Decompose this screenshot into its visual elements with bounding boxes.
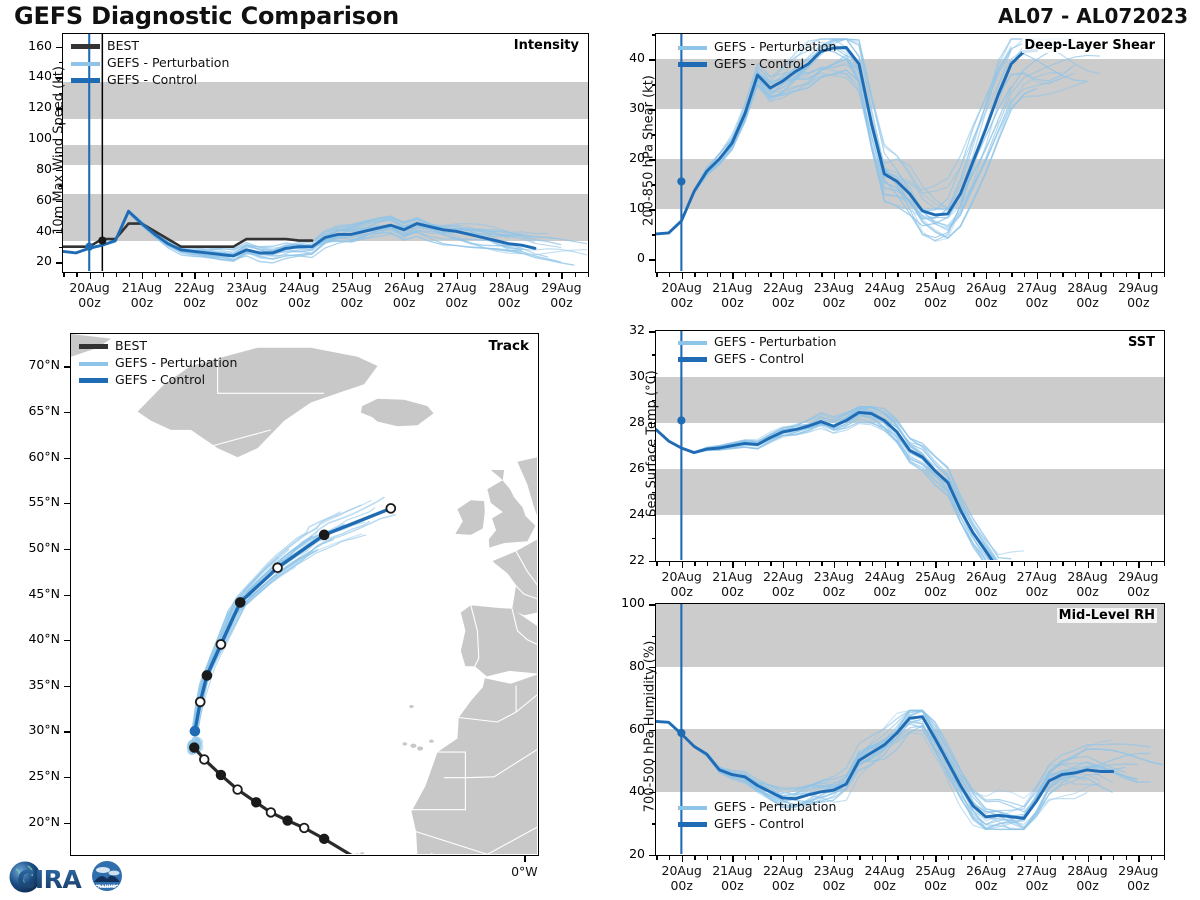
x-tick-hour: 00z — [1076, 878, 1098, 893]
svg-text:RAMMB: RAMMB — [98, 884, 116, 889]
y-tick-label: 60 — [585, 721, 645, 736]
x-minor-tick — [1011, 856, 1012, 860]
lat-tick-mark — [64, 503, 70, 504]
x-tick-mark — [682, 273, 683, 279]
x-tick-hour: 00z — [498, 295, 520, 310]
x-tick-label: 21Aug00z — [112, 280, 172, 311]
x-minor-tick — [378, 273, 379, 277]
control-track-line — [195, 508, 391, 731]
x-minor-tick — [443, 273, 444, 277]
x-tick-date: 20Aug — [662, 569, 702, 584]
x-minor-tick — [63, 273, 64, 277]
x-tick-mark — [1088, 273, 1089, 279]
x-tick-date: 27Aug — [1017, 863, 1057, 878]
x-tick-mark — [352, 273, 353, 279]
x-minor-tick — [535, 273, 536, 277]
x-minor-tick — [999, 273, 1000, 277]
x-minor-tick — [1024, 273, 1025, 277]
x-tick-mark — [783, 562, 784, 568]
x-tick-mark — [561, 273, 562, 279]
x-minor-tick — [872, 562, 873, 566]
y-minor-tick — [59, 247, 63, 248]
x-tick-date: 29Aug — [1118, 280, 1158, 295]
legend-label-perturbation: GEFS - Perturbation — [714, 801, 836, 814]
x-tick-date: 20Aug — [662, 280, 702, 295]
x-tick-date: 28Aug — [1067, 863, 1107, 878]
legend-swatch-perturbation — [678, 341, 707, 345]
shear-panel-label: Deep-Layer Shear — [1022, 38, 1157, 53]
y-tick-label: 28 — [585, 414, 645, 429]
lat-tick-label: 60°N — [0, 449, 60, 464]
legend-swatch-best — [71, 44, 100, 48]
x-minor-tick — [1024, 562, 1025, 566]
x-minor-tick — [973, 856, 974, 860]
legend-label-perturbation: GEFS - Perturbation — [115, 357, 237, 370]
x-tick-date: 27Aug — [436, 280, 476, 295]
y-tick-label: 30 — [585, 368, 645, 383]
x-tick-date: 23Aug — [814, 863, 854, 878]
x-minor-tick — [286, 273, 287, 277]
x-minor-tick — [1151, 856, 1152, 860]
y-tick-mark — [56, 232, 62, 233]
x-tick-mark — [834, 562, 835, 568]
x-tick-date: 25Aug — [915, 569, 955, 584]
y-tick-mark — [56, 77, 62, 78]
x-tick-date: 26Aug — [966, 863, 1006, 878]
x-tick-hour: 00z — [670, 878, 692, 893]
x-tick-hour: 00z — [670, 295, 692, 310]
sst-legend: GEFS - Perturbation GEFS - Control — [678, 334, 836, 368]
y-tick-label: 80 — [585, 658, 645, 673]
x-tick-hour: 00z — [721, 878, 743, 893]
x-tick-date: 20Aug — [662, 863, 702, 878]
x-tick-hour: 00z — [924, 295, 946, 310]
x-minor-tick — [1164, 856, 1165, 860]
rh-legend: GEFS - Perturbation GEFS - Control — [678, 799, 836, 833]
x-tick-date: 25Aug — [332, 280, 372, 295]
x-minor-tick — [809, 562, 810, 566]
x-tick-hour: 00z — [131, 295, 153, 310]
x-minor-tick — [910, 273, 911, 277]
x-minor-tick — [1050, 273, 1051, 277]
x-tick-hour: 00z — [772, 295, 794, 310]
x-minor-tick — [548, 273, 549, 277]
y-minor-tick — [652, 184, 656, 185]
x-tick-hour: 00z — [975, 878, 997, 893]
x-tick-hour: 00z — [823, 584, 845, 599]
x-minor-tick — [1011, 273, 1012, 277]
x-tick-label: 29Aug00z — [531, 280, 591, 311]
y-tick-mark — [649, 469, 655, 470]
x-tick-date: 21Aug — [122, 280, 162, 295]
x-tick-hour: 00z — [1026, 295, 1048, 310]
lat-tick-label: 50°N — [0, 540, 60, 555]
x-tick-date: 21Aug — [712, 280, 752, 295]
y-tick-mark — [649, 730, 655, 731]
x-minor-tick — [656, 856, 657, 860]
x-minor-tick — [821, 273, 822, 277]
x-minor-tick — [948, 856, 949, 860]
lat-tick-label: 45°N — [0, 586, 60, 601]
x-tick-date: 21Aug — [712, 569, 752, 584]
legend-label-control: GEFS - Control — [714, 353, 804, 366]
x-tick-hour: 00z — [823, 878, 845, 893]
x-tick-hour: 00z — [236, 295, 258, 310]
x-minor-tick — [745, 562, 746, 566]
panel-sst: SST GEFS - Perturbation GEFS - Control S… — [655, 330, 1165, 562]
x-tick-date: 22Aug — [763, 863, 803, 878]
y-tick-mark — [649, 515, 655, 516]
y-tick-mark — [649, 604, 655, 605]
current-time-marker — [85, 243, 93, 251]
lat-tick-mark — [64, 549, 70, 550]
legend-label-control: GEFS - Control — [714, 818, 804, 831]
current-time-marker — [677, 416, 685, 424]
x-minor-tick — [923, 273, 924, 277]
x-tick-label: 24Aug00z — [269, 280, 329, 311]
x-tick-label: 26Aug00z — [374, 280, 434, 311]
y-tick-label: 20 — [585, 846, 645, 861]
legend-label-control: GEFS - Control — [107, 74, 197, 87]
x-minor-tick — [758, 562, 759, 566]
x-tick-mark — [935, 273, 936, 279]
lat-tick-label: 20°N — [0, 814, 60, 829]
x-tick-mark — [1037, 856, 1038, 862]
y-tick-label: 20 — [0, 253, 52, 268]
y-minor-tick — [59, 124, 63, 125]
x-minor-tick — [847, 273, 848, 277]
control-track-point — [196, 698, 205, 707]
y-tick-label: 100 — [585, 595, 645, 610]
x-minor-tick — [847, 856, 848, 860]
x-tick-mark — [1138, 273, 1139, 279]
rh-panel-label: Mid-Level RH — [1057, 608, 1157, 623]
x-minor-tick — [859, 562, 860, 566]
y-minor-tick — [652, 446, 656, 447]
x-minor-tick — [116, 273, 117, 277]
x-tick-mark — [732, 562, 733, 568]
y-tick-mark — [56, 262, 62, 263]
control-track-point — [320, 530, 329, 539]
x-tick-label: 29Aug00z — [1108, 863, 1168, 894]
x-tick-label: 23Aug00z — [217, 280, 277, 311]
y-tick-mark — [649, 209, 655, 210]
x-tick-label: 22Aug00z — [164, 280, 224, 311]
x-tick-hour: 00z — [823, 295, 845, 310]
x-minor-tick — [770, 562, 771, 566]
x-minor-tick — [1126, 562, 1127, 566]
x-tick-label: 27Aug00z — [427, 280, 487, 311]
lat-tick-mark — [64, 412, 70, 413]
x-minor-tick — [417, 273, 418, 277]
lon-tick-label: 0°W — [494, 864, 554, 879]
track-series-lines — [71, 334, 537, 854]
control-track-point — [191, 727, 200, 736]
x-tick-mark — [885, 562, 886, 568]
y-minor-tick — [59, 185, 63, 186]
x-tick-date: 26Aug — [384, 280, 424, 295]
x-tick-date: 28Aug — [1067, 569, 1107, 584]
x-minor-tick — [745, 273, 746, 277]
x-minor-tick — [973, 562, 974, 566]
x-tick-mark — [142, 273, 143, 279]
x-minor-tick — [720, 562, 721, 566]
y-tick-mark — [649, 259, 655, 260]
y-tick-mark — [56, 108, 62, 109]
lat-tick-label: 40°N — [0, 631, 60, 646]
lat-tick-mark — [64, 777, 70, 778]
y-tick-mark — [649, 331, 655, 332]
x-tick-mark — [935, 562, 936, 568]
y-tick-mark — [56, 47, 62, 48]
x-minor-tick — [770, 273, 771, 277]
x-tick-hour: 00z — [721, 584, 743, 599]
y-tick-mark — [649, 59, 655, 60]
x-tick-mark — [682, 856, 683, 862]
x-tick-date: 21Aug — [712, 863, 752, 878]
y-minor-tick — [652, 234, 656, 235]
x-minor-tick — [1126, 273, 1127, 277]
track-panel-label: Track — [487, 338, 531, 354]
y-minor-tick — [652, 538, 656, 539]
y-tick-mark — [56, 201, 62, 202]
x-minor-tick — [897, 856, 898, 860]
x-tick-date: 24Aug — [864, 569, 904, 584]
y-minor-tick — [652, 84, 656, 85]
y-tick-label: 80 — [0, 161, 52, 176]
x-tick-mark — [299, 273, 300, 279]
x-minor-tick — [339, 273, 340, 277]
legend-label-best: BEST — [115, 340, 147, 353]
x-tick-date: 22Aug — [763, 280, 803, 295]
x-minor-tick — [961, 856, 962, 860]
y-tick-mark — [649, 109, 655, 110]
lat-tick-label: 65°N — [0, 403, 60, 418]
intensity-legend: BEST GEFS - Perturbation GEFS - Control — [71, 38, 229, 89]
x-minor-tick — [669, 273, 670, 277]
x-minor-tick — [1062, 273, 1063, 277]
lat-tick-mark — [64, 823, 70, 824]
x-tick-mark — [834, 273, 835, 279]
panel-intensity: Intensity BEST GEFS - Perturbation GEFS … — [62, 33, 589, 273]
y-minor-tick — [59, 93, 63, 94]
figure-canvas: GEFS Diagnostic Comparison AL07 - AL0720… — [0, 0, 1200, 900]
svg-text:CIRA: CIRA — [17, 865, 82, 894]
best-track-point — [217, 771, 226, 780]
x-minor-tick — [796, 856, 797, 860]
x-minor-tick — [694, 273, 695, 277]
y-tick-label: 140 — [0, 68, 52, 83]
x-tick-label: 29Aug00z — [1108, 280, 1168, 311]
best-track-point — [300, 824, 309, 833]
best-track-line — [194, 748, 364, 855]
x-tick-mark — [783, 856, 784, 862]
x-tick-mark — [1088, 562, 1089, 568]
x-tick-mark — [885, 273, 886, 279]
y-minor-tick — [652, 823, 656, 824]
x-tick-hour: 00z — [924, 878, 946, 893]
best-track-point — [320, 835, 329, 844]
intensity-plot-area: Intensity BEST GEFS - Perturbation GEFS … — [62, 33, 589, 273]
x-tick-hour: 00z — [772, 878, 794, 893]
legend-label-control: GEFS - Control — [115, 374, 205, 387]
x-tick-mark — [1037, 273, 1038, 279]
legend-swatch-perturbation — [79, 362, 108, 366]
x-minor-tick — [1075, 273, 1076, 277]
x-minor-tick — [1075, 856, 1076, 860]
lon-tick-mark — [524, 856, 525, 862]
y-tick-label: 20 — [585, 150, 645, 165]
x-tick-mark — [732, 273, 733, 279]
x-minor-tick — [575, 273, 576, 277]
legend-swatch-perturbation — [678, 806, 707, 810]
x-tick-label: 20Aug00z — [60, 280, 120, 311]
control-track-point — [203, 671, 212, 680]
x-tick-mark — [986, 273, 987, 279]
y-tick-mark — [649, 855, 655, 856]
x-minor-tick — [923, 856, 924, 860]
x-minor-tick — [1062, 562, 1063, 566]
x-tick-hour: 00z — [78, 295, 100, 310]
x-tick-hour: 00z — [550, 295, 572, 310]
x-minor-tick — [758, 273, 759, 277]
shear-plot-area: Deep-Layer Shear GEFS - Perturbation GEF… — [655, 33, 1165, 273]
x-tick-mark — [1138, 562, 1139, 568]
y-tick-label: 0 — [585, 250, 645, 265]
x-minor-tick — [221, 273, 222, 277]
x-minor-tick — [1062, 856, 1063, 860]
x-minor-tick — [707, 273, 708, 277]
y-minor-tick — [59, 155, 63, 156]
x-minor-tick — [273, 273, 274, 277]
x-tick-hour: 00z — [924, 584, 946, 599]
track-legend: BEST GEFS - Perturbation GEFS - Control — [79, 338, 237, 389]
x-minor-tick — [720, 856, 721, 860]
x-minor-tick — [656, 273, 657, 277]
best-track-point — [200, 755, 209, 764]
y-minor-tick — [59, 62, 63, 63]
y-tick-label: 30 — [585, 100, 645, 115]
x-minor-tick — [923, 562, 924, 566]
sst-plot-area: SST GEFS - Perturbation GEFS - Control — [655, 330, 1165, 562]
legend-swatch-best — [79, 344, 108, 348]
y-minor-tick — [652, 400, 656, 401]
x-minor-tick — [910, 562, 911, 566]
series-line-gefs-control — [63, 211, 535, 256]
x-minor-tick — [1050, 856, 1051, 860]
y-tick-mark — [649, 159, 655, 160]
x-minor-tick — [973, 273, 974, 277]
legend-label-perturbation: GEFS - Perturbation — [714, 41, 836, 54]
y-tick-label: 10 — [585, 200, 645, 215]
legend-swatch-perturbation — [678, 46, 707, 50]
page-title: GEFS Diagnostic Comparison — [14, 2, 399, 30]
x-tick-hour: 00z — [445, 295, 467, 310]
x-tick-date: 22Aug — [174, 280, 214, 295]
x-minor-tick — [796, 562, 797, 566]
x-tick-hour: 00z — [1026, 878, 1048, 893]
x-tick-mark — [404, 273, 405, 279]
x-tick-date: 22Aug — [763, 569, 803, 584]
y-tick-label: 160 — [0, 38, 52, 53]
x-minor-tick — [129, 273, 130, 277]
x-tick-hour: 00z — [1076, 584, 1098, 599]
lat-tick-label: 70°N — [0, 357, 60, 372]
x-tick-label: 28Aug00z — [479, 280, 539, 311]
x-tick-hour: 00z — [873, 295, 895, 310]
x-tick-hour: 00z — [975, 584, 997, 599]
x-tick-mark — [834, 856, 835, 862]
control-track-point — [386, 504, 395, 513]
x-tick-date: 24Aug — [864, 280, 904, 295]
x-minor-tick — [770, 856, 771, 860]
x-minor-tick — [897, 273, 898, 277]
x-tick-hour: 00z — [772, 584, 794, 599]
x-minor-tick — [103, 273, 104, 277]
control-track-point — [217, 640, 226, 649]
y-tick-label: 40 — [585, 50, 645, 65]
x-tick-hour: 00z — [721, 295, 743, 310]
series-line-gefs-control — [656, 47, 1036, 233]
storm-id-title: AL07 - AL072023 — [998, 4, 1188, 28]
y-minor-tick — [652, 761, 656, 762]
x-tick-label: 29Aug00z — [1108, 569, 1168, 600]
x-tick-hour: 00z — [288, 295, 310, 310]
x-minor-tick — [365, 273, 366, 277]
x-minor-tick — [809, 856, 810, 860]
x-minor-tick — [999, 856, 1000, 860]
x-minor-tick — [821, 562, 822, 566]
lat-tick-label: 55°N — [0, 494, 60, 509]
x-minor-tick — [1100, 273, 1101, 277]
x-minor-tick — [821, 856, 822, 860]
y-minor-tick — [652, 636, 656, 637]
legend-swatch-perturbation — [71, 62, 100, 66]
x-minor-tick — [859, 273, 860, 277]
x-tick-mark — [935, 856, 936, 862]
x-tick-hour: 00z — [873, 584, 895, 599]
x-tick-mark — [986, 856, 987, 862]
x-minor-tick — [669, 856, 670, 860]
legend-swatch-control — [678, 357, 707, 361]
panel-mid-level-rh: Mid-Level RH GEFS - Perturbation GEFS - … — [655, 603, 1165, 856]
x-minor-tick — [470, 273, 471, 277]
y-minor-tick — [652, 354, 656, 355]
x-tick-mark — [247, 273, 248, 279]
x-minor-tick — [796, 273, 797, 277]
x-minor-tick — [910, 856, 911, 860]
x-tick-date: 29Aug — [1118, 569, 1158, 584]
x-minor-tick — [897, 562, 898, 566]
track-plot-area: Track BEST GEFS - Perturbation GEFS - Co… — [70, 333, 539, 856]
x-tick-mark — [509, 273, 510, 279]
x-tick-hour: 00z — [393, 295, 415, 310]
x-tick-date: 24Aug — [864, 863, 904, 878]
x-minor-tick — [707, 562, 708, 566]
x-minor-tick — [496, 273, 497, 277]
x-tick-date: 28Aug — [489, 280, 529, 295]
sst-panel-label: SST — [1126, 335, 1157, 350]
legend-swatch-control — [678, 822, 707, 826]
x-tick-mark — [885, 856, 886, 862]
x-tick-mark — [986, 562, 987, 568]
x-minor-tick — [430, 273, 431, 277]
x-minor-tick — [522, 273, 523, 277]
x-minor-tick — [326, 273, 327, 277]
x-minor-tick — [948, 562, 949, 566]
y-tick-mark — [56, 170, 62, 171]
y-tick-mark — [56, 139, 62, 140]
